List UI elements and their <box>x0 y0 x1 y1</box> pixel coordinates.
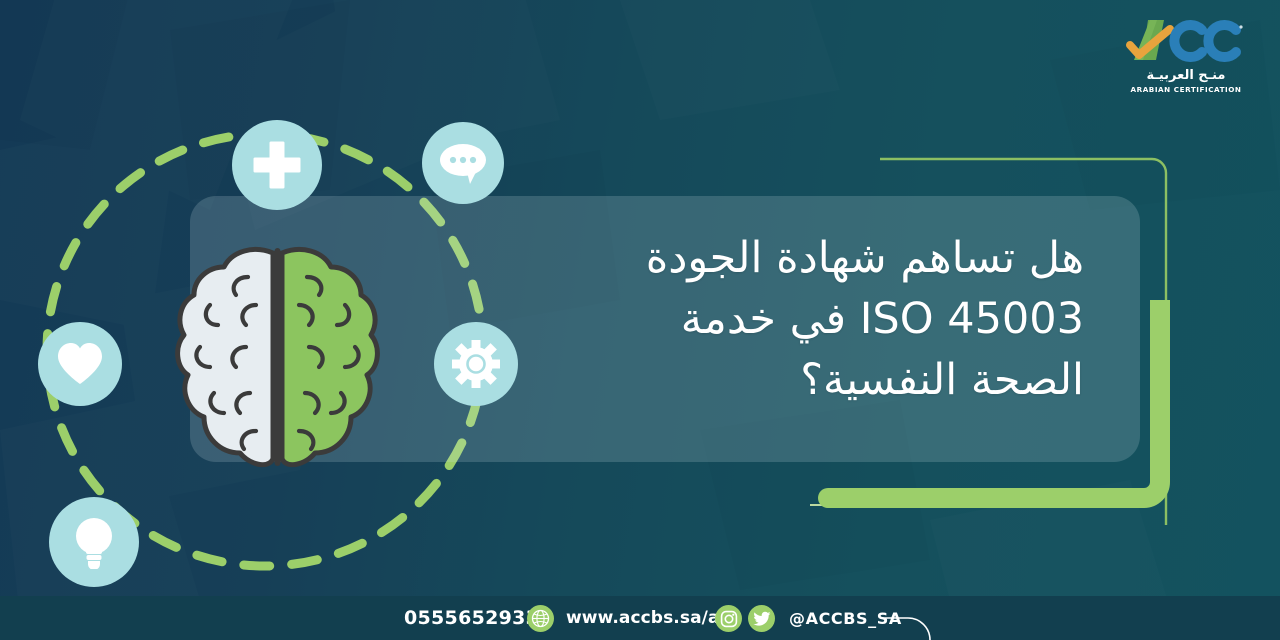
brand-logo[interactable]: منـح العربيـة ARABIAN CERTIFICATION <box>1126 14 1246 94</box>
poster-canvas: هل تساهم شهادة الجودة ISO 45003 في خدمة … <box>0 0 1280 640</box>
medical-cross-icon[interactable] <box>232 120 322 210</box>
lightbulb-glyph <box>72 515 116 569</box>
brain-illustration <box>170 243 385 473</box>
gear-glyph <box>451 339 501 389</box>
heart-icon[interactable] <box>38 322 122 406</box>
footer-contact-bar: 0555652933 www.accbs.sa/ar @ACCBS_ <box>0 596 1280 640</box>
globe-icon[interactable] <box>527 605 554 632</box>
page-title: هل تساهم شهادة الجودة ISO 45003 في خدمة … <box>544 228 1084 411</box>
headline-line-3: الصحة النفسية؟ <box>544 350 1084 411</box>
logo-arabic-name: منـح العربيـة <box>1126 68 1246 83</box>
chat-bubble-glyph <box>437 140 489 186</box>
twitter-icon[interactable] <box>748 605 775 632</box>
chat-bubble-icon[interactable] <box>422 122 504 204</box>
footer-swoosh-line <box>880 596 1010 640</box>
headline-line-2: ISO 45003 في خدمة <box>544 289 1084 350</box>
headline-line-1: هل تساهم شهادة الجودة <box>544 228 1084 289</box>
website-url[interactable]: www.accbs.sa/ar <box>566 608 728 628</box>
lightbulb-icon[interactable] <box>49 497 139 587</box>
logo-english-name: ARABIAN CERTIFICATION <box>1126 85 1246 94</box>
heart-glyph <box>55 341 105 387</box>
acc-logo-mark <box>1126 14 1246 66</box>
globe-glyph <box>531 609 550 628</box>
instagram-icon[interactable] <box>715 605 742 632</box>
twitter-glyph <box>753 611 771 627</box>
gear-icon[interactable] <box>434 322 518 406</box>
instagram-glyph <box>720 610 738 628</box>
medical-cross-glyph <box>251 139 303 191</box>
phone-number[interactable]: 0555652933 <box>404 607 539 629</box>
